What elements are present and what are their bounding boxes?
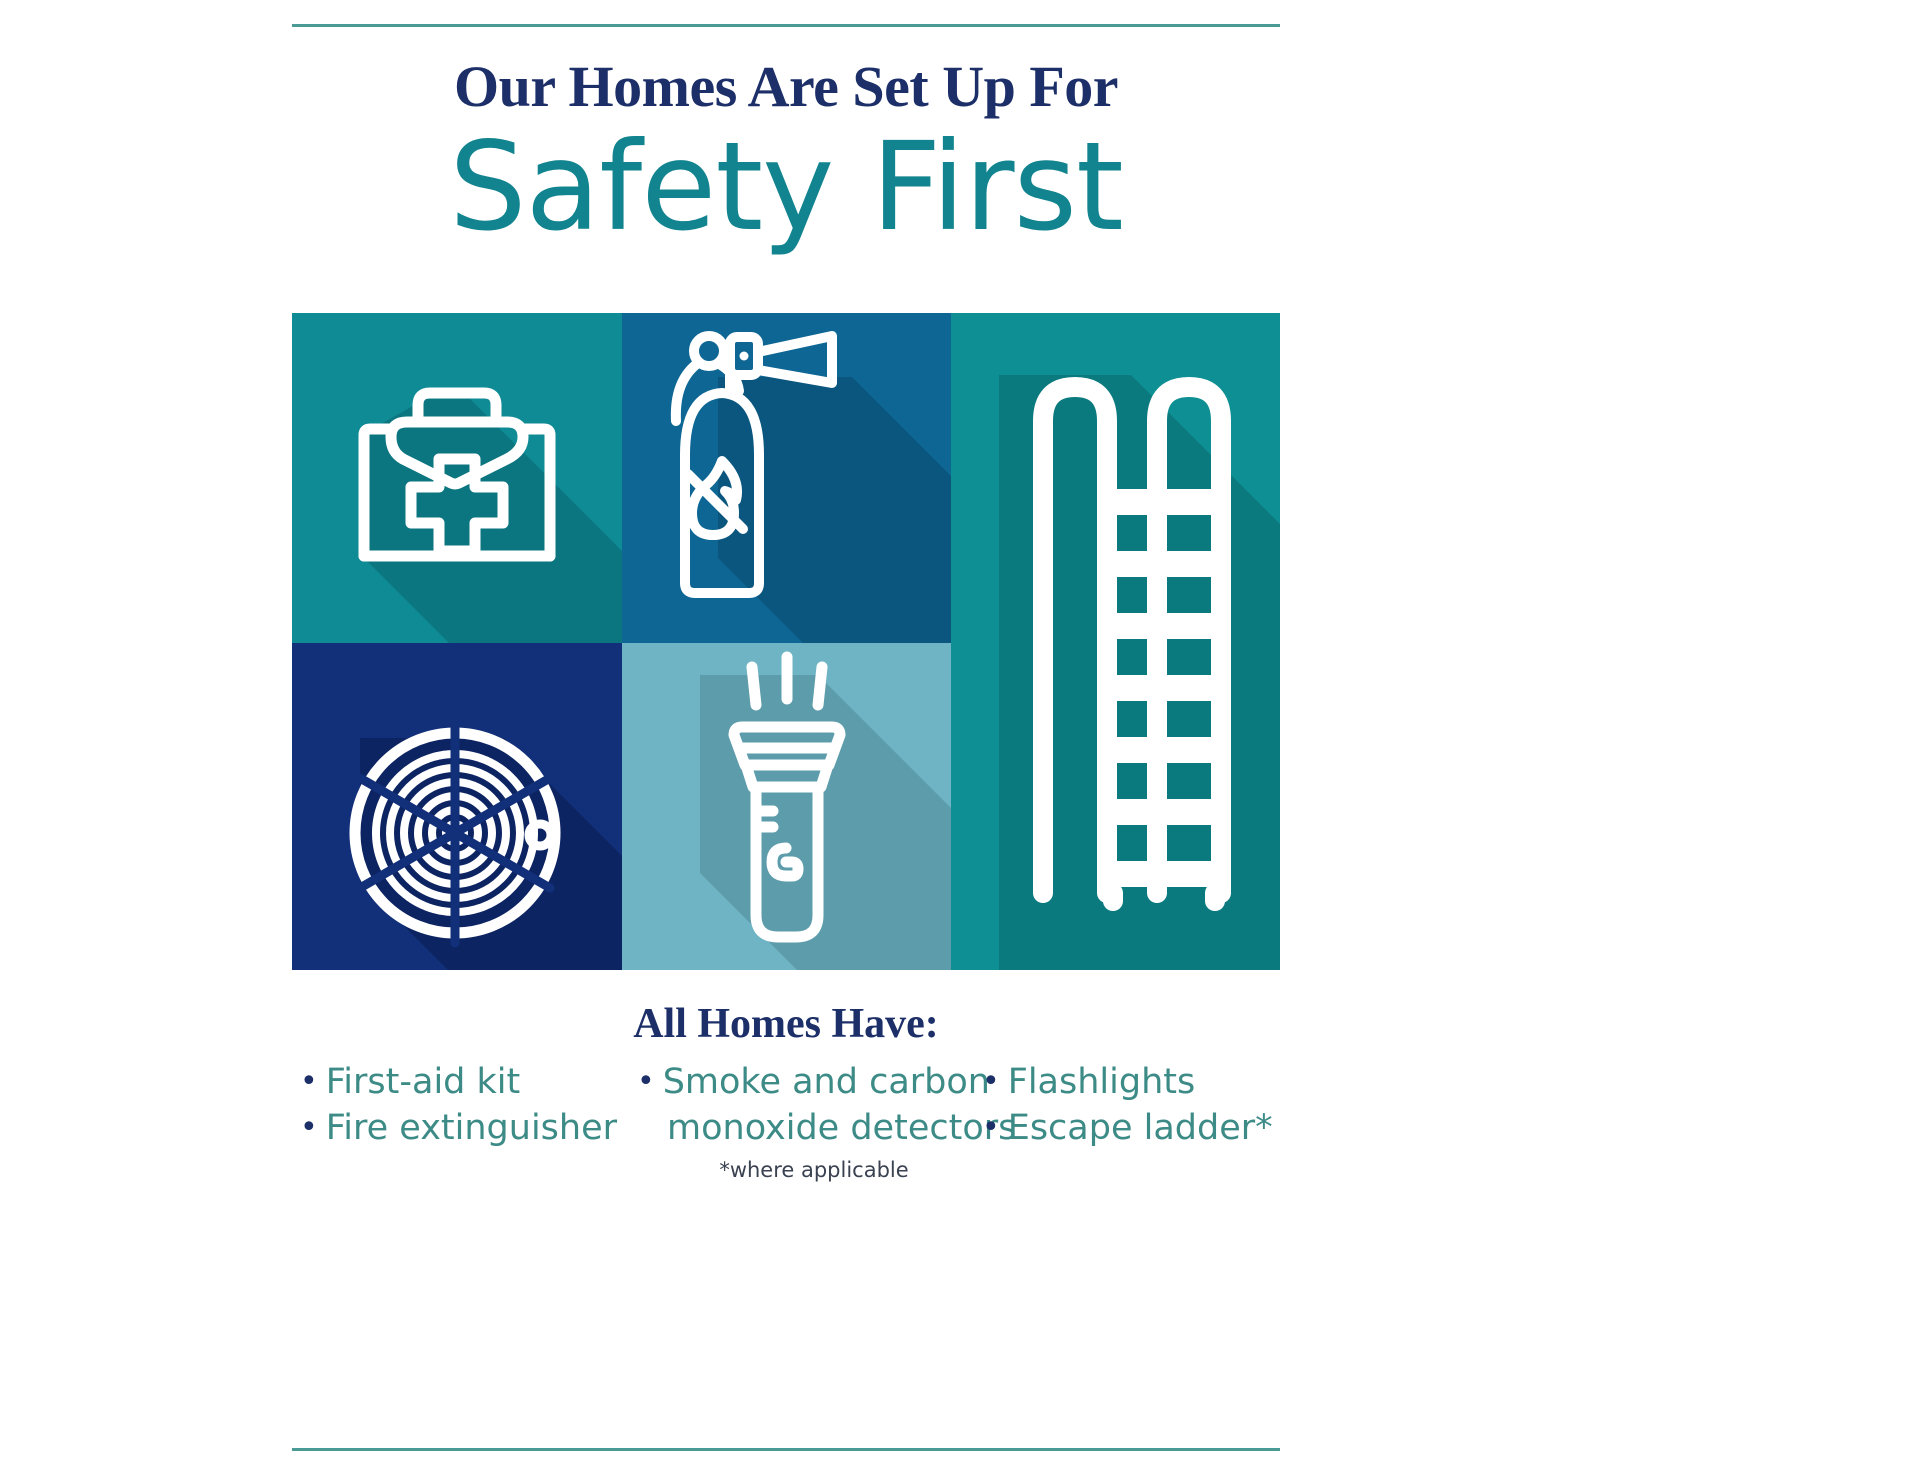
list-item-label: First-aid kit [326,1062,521,1102]
panel-escape-ladder [951,313,1280,970]
list-item-label: monoxide detectors [637,1105,1016,1151]
panel-fire-extinguisher [622,313,951,643]
fire-extinguisher-icon [622,313,951,643]
icon-grid [292,313,1280,970]
bullet-icon: • [300,1110,318,1145]
checklist-column-1: •First-aid kit •Fire extinguisher [300,1059,600,1151]
panel-flashlight [622,643,951,970]
bottom-divider-rule [292,1448,1280,1451]
list-item-continuation: monoxide detectors [637,1105,967,1151]
bullet-icon: • [637,1064,655,1099]
list-item: •Escape ladder* [982,1105,1272,1151]
kicker-heading: Our Homes Are Set Up For [292,58,1280,116]
checklist-column-2: •Smoke and carbon monoxide detectors [637,1059,967,1151]
list-item-label: Fire extinguisher [326,1108,617,1148]
panel-first-aid-kit [292,313,622,643]
list-item: •Fire extinguisher [300,1105,600,1151]
bullet-icon: • [982,1064,1000,1099]
bullet-icon: • [300,1064,318,1099]
first-aid-kit-icon [292,313,622,643]
bullet-icon: • [982,1110,1000,1145]
flashlight-icon [622,643,951,970]
smoke-detector-icon [292,643,622,970]
list-item: •Smoke and carbon [637,1059,967,1105]
list-item-label: Flashlights [1008,1062,1196,1102]
top-divider-rule [292,24,1280,27]
footnote-text: *where applicable [719,1158,908,1182]
footnote: *where applicable [292,1158,1280,1182]
list-item-label: Escape ladder* [1008,1108,1273,1148]
list-item: •Flashlights [982,1059,1272,1105]
page-title: Safety First [292,126,1280,248]
escape-ladder-icon [951,313,1280,970]
checklist-column-3: •Flashlights •Escape ladder* [982,1059,1272,1151]
section-heading: All Homes Have: [292,1000,1280,1048]
list-item: •First-aid kit [300,1059,600,1105]
safety-first-poster: Our Homes Are Set Up For Safety First [0,0,1920,1483]
panel-smoke-detector [292,643,622,970]
list-item-label: Smoke and carbon [663,1062,990,1102]
